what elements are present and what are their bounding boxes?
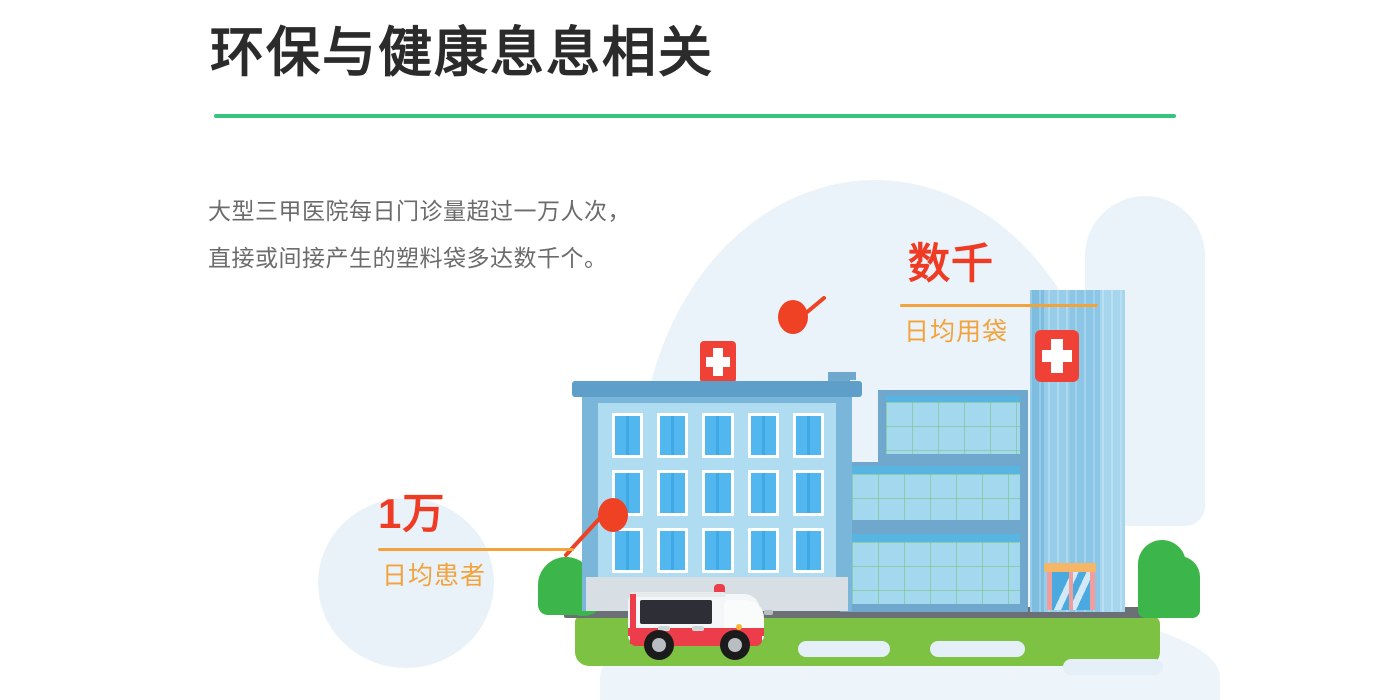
window-grid <box>612 413 824 573</box>
window <box>702 528 733 573</box>
window <box>657 528 688 573</box>
midrise-glass-panel <box>852 474 1020 520</box>
road-dash-marking <box>798 641 890 657</box>
callout-daily-bags: 数千 日均用袋 <box>900 230 1150 350</box>
callout-daily-patients: 1万 日均患者 <box>370 480 630 600</box>
callout-label: 日均患者 <box>382 556 486 592</box>
cross-horizontal-bar <box>1042 350 1072 362</box>
window <box>793 528 824 573</box>
ambulance-mirror <box>764 610 773 615</box>
window <box>748 528 779 573</box>
tower-door-divider <box>1069 572 1073 610</box>
slide-root: 环保与健康息息相关 大型三甲医院每日门诊量超过一万人次，直接或间接产生的塑料袋多… <box>0 0 1400 700</box>
window <box>748 413 779 458</box>
tower-canopy-pillar <box>1047 572 1052 610</box>
midrise-glass-panel <box>886 402 1020 454</box>
callout-label: 日均用袋 <box>904 312 1008 348</box>
window <box>657 413 688 458</box>
window <box>793 470 824 515</box>
callout-value: 数千 <box>908 230 994 291</box>
window <box>793 413 824 458</box>
window <box>612 413 643 458</box>
ambulance-wheel <box>720 630 750 660</box>
glass-midrise-building <box>840 390 1050 612</box>
window <box>748 470 779 515</box>
window <box>657 470 688 515</box>
callout-rule <box>378 548 574 551</box>
bush-icon <box>1158 556 1200 618</box>
hospital-campus-illustration: 1万 日均患者 数千 日均用袋 <box>0 0 1400 700</box>
ambulance-window <box>640 600 712 624</box>
red-cross-icon <box>700 341 736 383</box>
callout-value: 1万 <box>378 480 445 541</box>
building-cornice <box>572 381 862 397</box>
ambulance <box>618 572 773 664</box>
road-dash-marking <box>1063 659 1163 675</box>
callout-rule <box>900 304 1098 307</box>
ambulance-wheel <box>644 630 674 660</box>
cross-horizontal-bar <box>706 357 730 367</box>
annex-block-cap <box>828 372 856 380</box>
tower-entrance-canopy <box>1044 563 1096 572</box>
ambulance-roofline <box>630 592 726 597</box>
window <box>702 413 733 458</box>
ambulance-marker-light <box>736 624 742 630</box>
callout-marker-dot <box>598 498 628 532</box>
midrise-glass-panel <box>852 542 1020 604</box>
tower-canopy-pillar <box>1090 572 1095 610</box>
ambulance-door-handle <box>692 626 704 631</box>
window <box>702 470 733 515</box>
callout-marker-dot <box>778 300 808 334</box>
road-dash-marking <box>930 641 1025 657</box>
